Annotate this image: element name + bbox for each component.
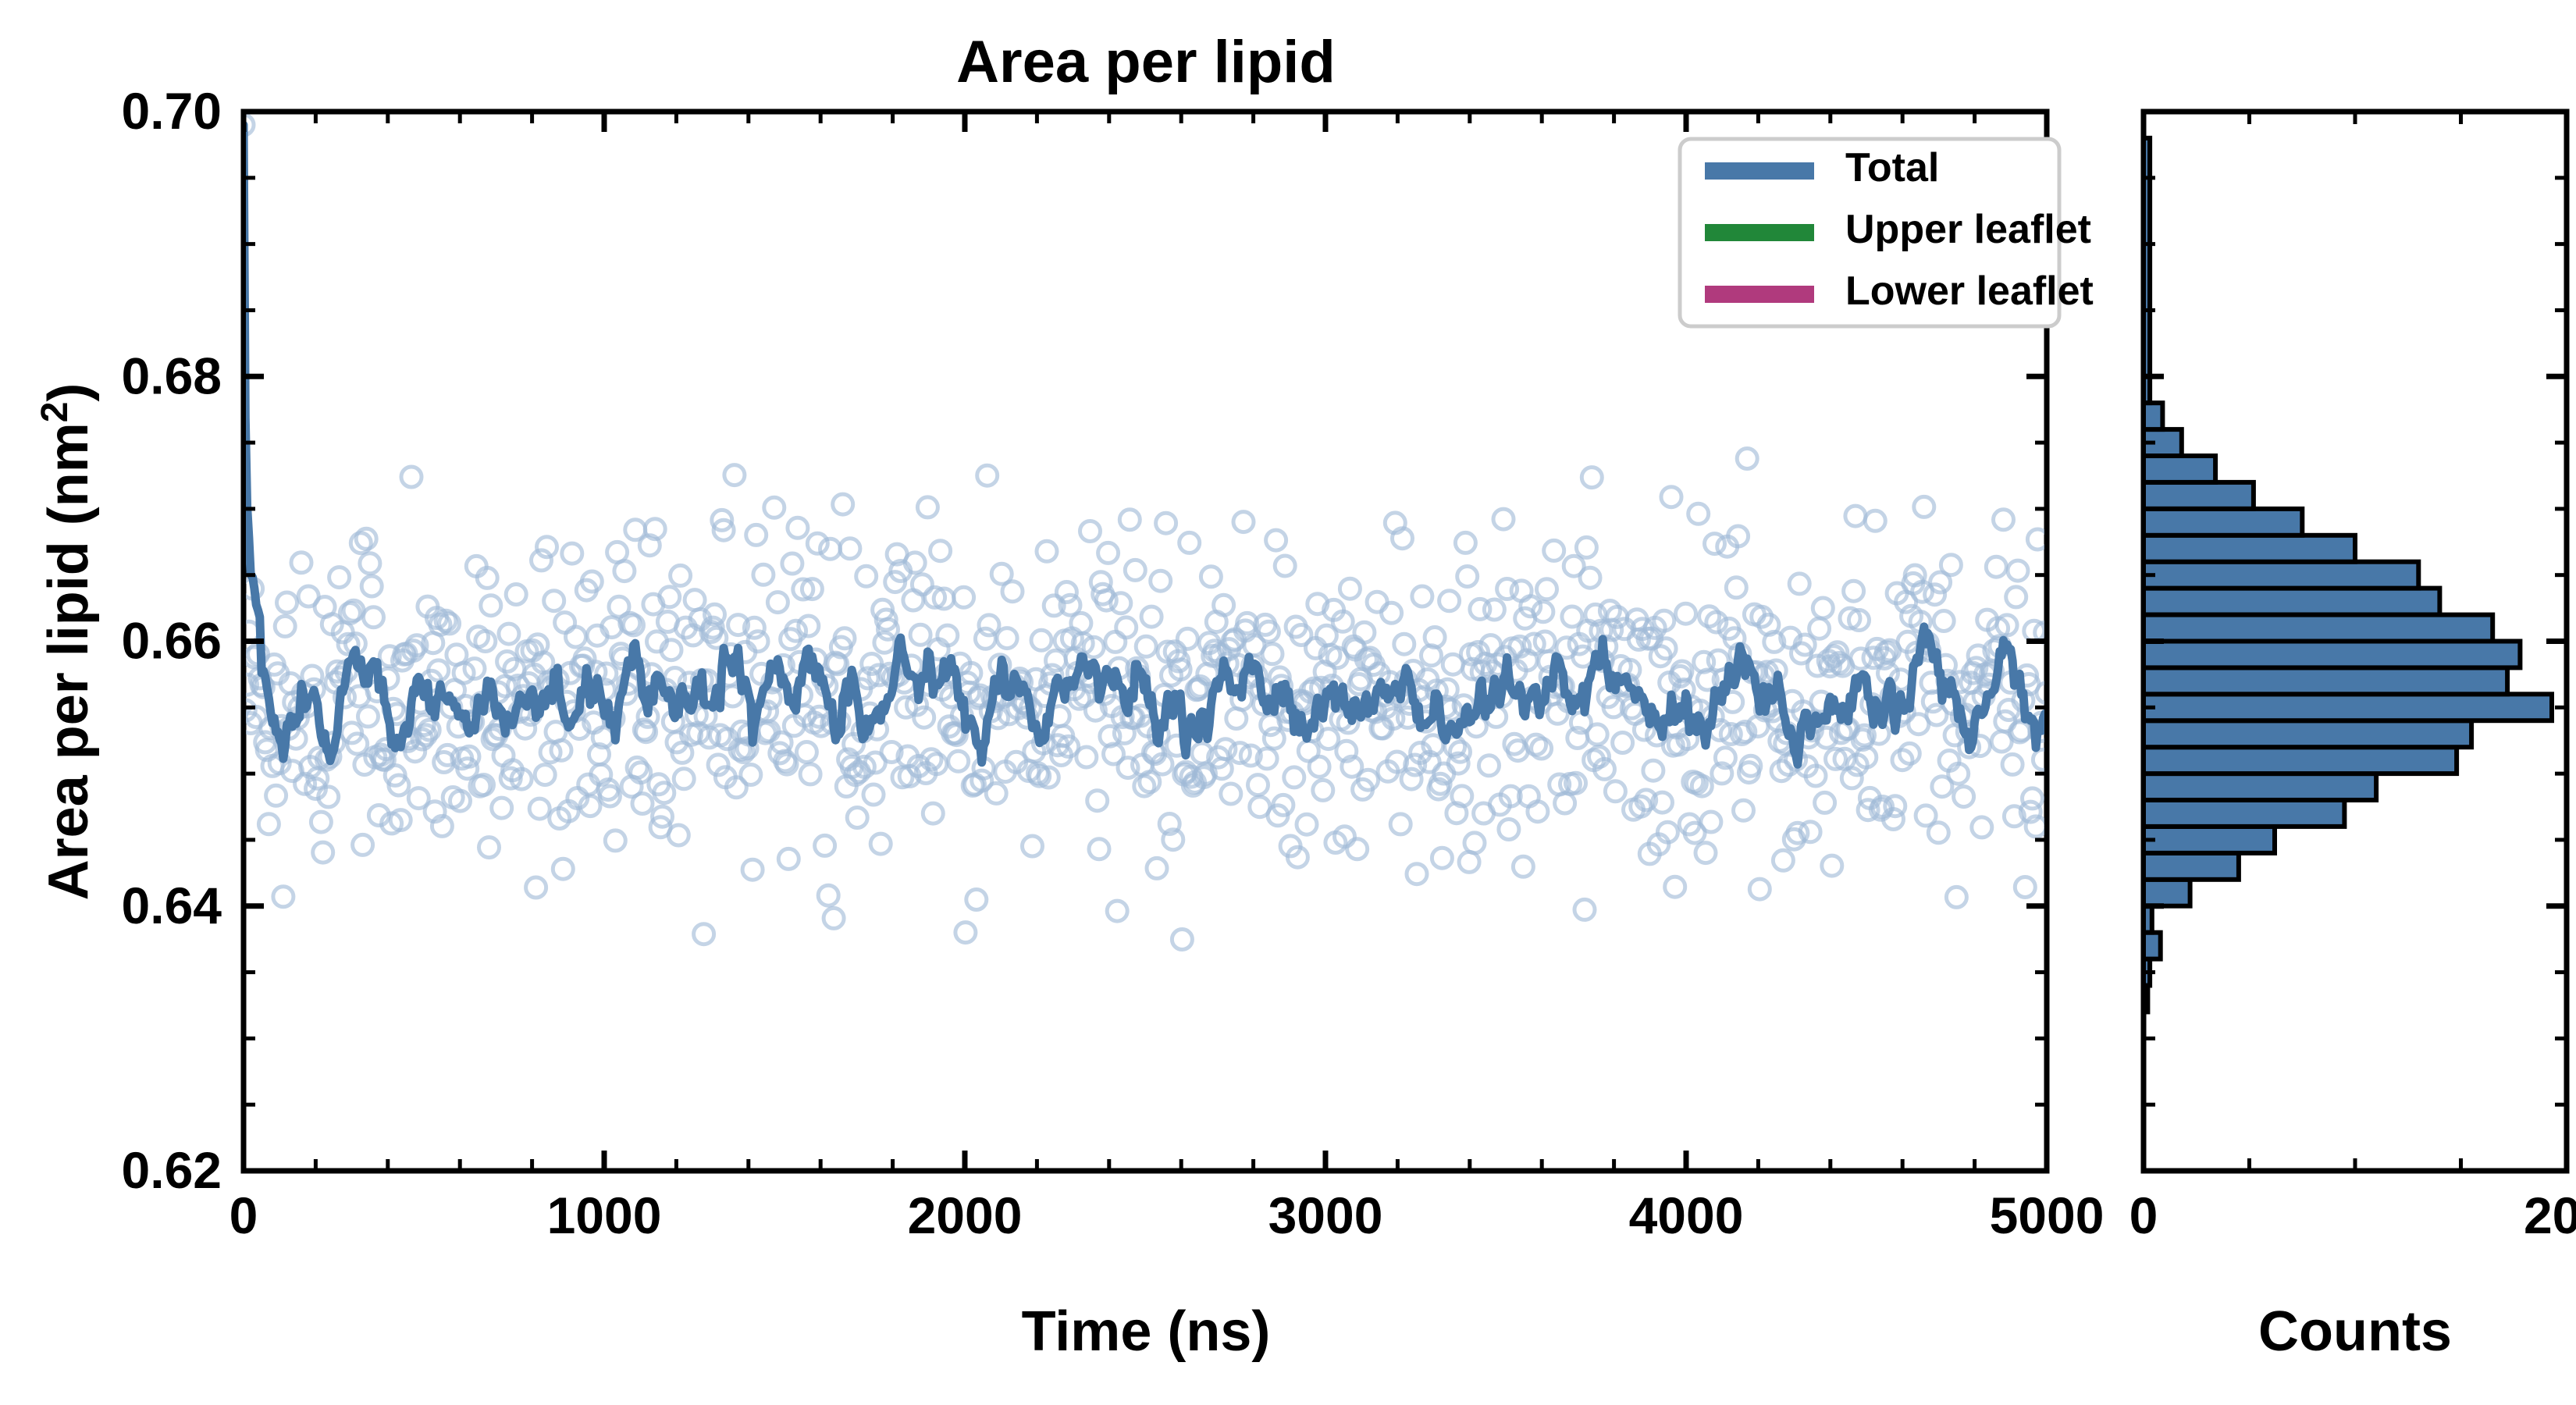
figure-canvas: Area per lipid 010002000300040005000 0.6…: [0, 0, 2576, 1405]
legend-label-total: Total: [1845, 145, 1939, 190]
histogram-axes: 0200: [2129, 112, 2576, 1244]
histogram-bar: [2144, 456, 2215, 482]
histogram-bar: [2144, 403, 2162, 429]
legend[interactable]: Total Upper leaflet Lower leaflet: [1680, 139, 2094, 326]
x-tick-label: 5000: [1990, 1186, 2105, 1244]
histogram-x-axis-label: Counts: [2258, 1300, 2452, 1363]
histogram-bar: [2144, 562, 2418, 589]
histogram-x-tick-label: 0: [2129, 1186, 2158, 1244]
x-axis-label: Time (ns): [1022, 1300, 1271, 1363]
histogram-bar: [2144, 774, 2376, 800]
x-axis-tick-labels: 010002000300040005000: [229, 1186, 2105, 1244]
histogram-bar: [2144, 667, 2507, 694]
histogram-bar: [2144, 747, 2457, 774]
x-tick-label: 4000: [1629, 1186, 1744, 1244]
y-tick-label: 0.66: [122, 612, 222, 670]
histogram-bar: [2144, 800, 2344, 827]
y-axis-label: Area per lipid (nm2): [34, 383, 100, 901]
y-tick-label: 0.68: [122, 347, 222, 404]
page-title: Area per lipid: [956, 29, 1336, 95]
x-tick-label: 2000: [908, 1186, 1023, 1244]
legend-swatch-lower-leaflet: [1705, 286, 1814, 303]
legend-swatch-total: [1705, 162, 1814, 180]
y-tick-label: 0.70: [122, 82, 222, 140]
figure-svg: Area per lipid 010002000300040005000 0.6…: [0, 0, 2576, 1405]
y-tick-label: 0.62: [122, 1141, 222, 1199]
legend-label-upper-leaflet: Upper leaflet: [1845, 207, 2091, 252]
y-tick-label: 0.64: [122, 877, 222, 934]
histogram-bar: [2144, 535, 2355, 562]
y-axis-tick-labels: 0.620.640.660.680.70: [122, 82, 222, 1199]
y-axis-label-tail: ): [37, 383, 100, 402]
legend-swatch-upper-leaflet: [1705, 224, 1814, 241]
histogram-bar: [2144, 853, 2239, 880]
histogram-bar: [2144, 589, 2439, 615]
histogram-bar: [2144, 642, 2520, 668]
histogram-bar: [2144, 694, 2552, 720]
histogram-bar: [2144, 933, 2161, 959]
histogram-bar: [2144, 880, 2190, 906]
histogram-bar: [2144, 482, 2254, 509]
y-axis-label-base: Area per lipid (nm: [37, 422, 100, 900]
svg-text:Area per lipid (nm2): Area per lipid (nm2): [34, 383, 100, 901]
histogram-x-tick-labels: 0200: [2129, 1186, 2576, 1244]
x-tick-label: 1000: [547, 1186, 662, 1244]
histogram-bar: [2144, 720, 2471, 747]
legend-label-lower-leaflet: Lower leaflet: [1845, 269, 2094, 314]
y-axis-label-superscript: 2: [34, 402, 76, 423]
histogram-bar: [2144, 615, 2492, 642]
x-tick-label: 0: [229, 1186, 258, 1244]
histogram-x-tick-label: 200: [2524, 1186, 2576, 1244]
histogram-bar: [2144, 509, 2302, 535]
x-tick-label: 3000: [1268, 1186, 1383, 1244]
histogram-bar: [2144, 827, 2275, 853]
